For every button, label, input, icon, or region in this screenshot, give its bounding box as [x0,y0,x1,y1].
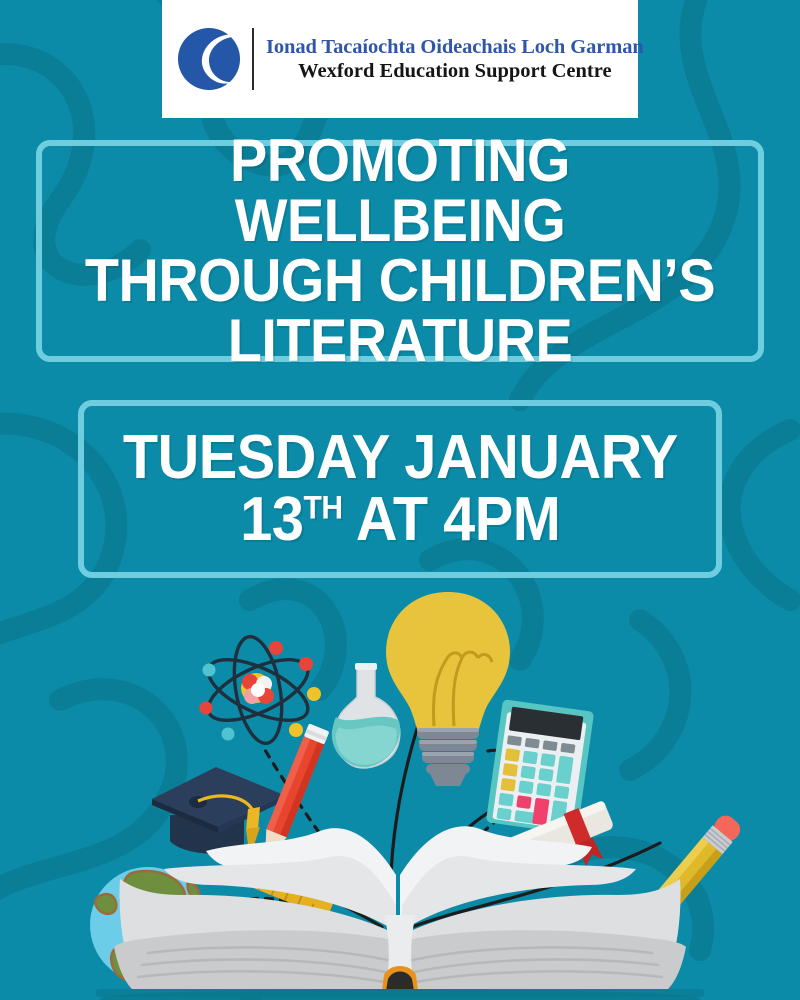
open-book-icon [96,826,704,1000]
date-day-number: 13 [240,485,303,554]
page-title: PROMOTING WELLBEING THROUGH CHILDREN’S L… [67,131,733,371]
title-line-3: LITERATURE [228,307,573,374]
flask-icon [332,663,400,768]
graduation-cap-icon [152,767,284,854]
logo-text-block: Ionad Tacaíochta Oideachais Loch Garman … [266,35,644,83]
atom-icon [200,633,322,747]
logo-divider [252,28,254,90]
title-line-1: PROMOTING WELLBEING [230,127,570,254]
lightbulb-icon [386,592,510,786]
logo-english-name: Wexford Education Support Centre [266,59,644,83]
logo-container: Ionad Tacaíochta Oideachais Loch Garman … [162,0,638,118]
date-frame: TUESDAY JANUARY13TH AT 4PM [78,400,722,578]
date-ordinal-suffix: TH [303,489,342,525]
event-date: TUESDAY JANUARY13TH AT 4PM [113,427,686,551]
logo-irish-name: Ionad Tacaíochta Oideachais Loch Garman [266,35,644,59]
crescent-c-icon [176,26,242,92]
poster-canvas: Ionad Tacaíochta Oideachais Loch Garman … [0,0,800,1000]
title-line-2: THROUGH CHILDREN’S [85,247,715,314]
date-line-1: TUESDAY JANUARY [123,423,678,492]
title-frame: PROMOTING WELLBEING THROUGH CHILDREN’S L… [36,140,764,362]
date-time: AT 4PM [342,485,560,554]
open-book-with-education-icons [0,575,800,1000]
